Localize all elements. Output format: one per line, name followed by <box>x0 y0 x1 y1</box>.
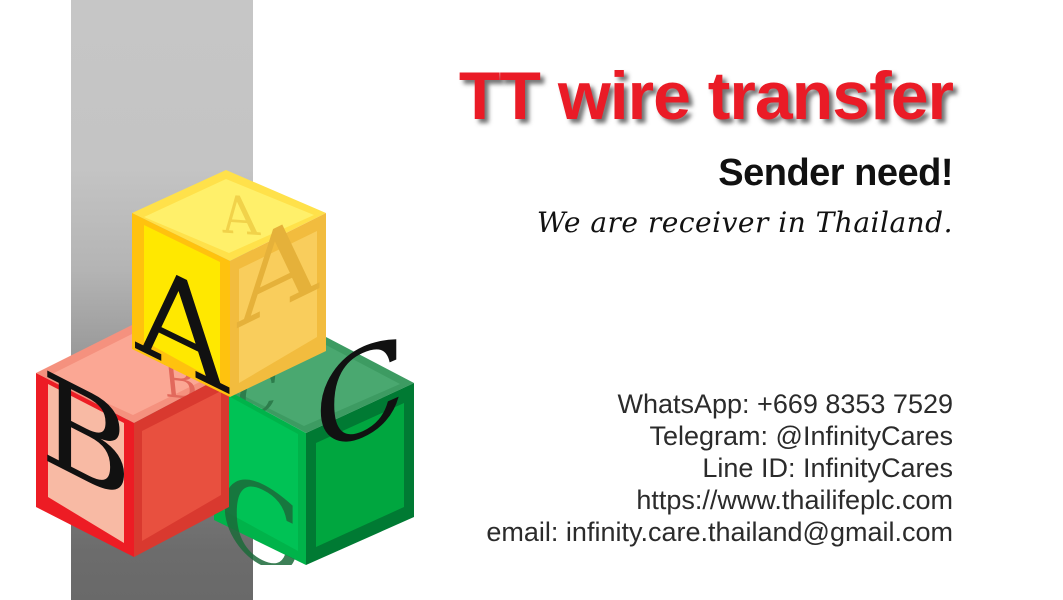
subtitle: Sender need! <box>0 151 953 195</box>
tagline: We are receiver in Thailand. <box>0 205 953 241</box>
contact-line-website[interactable]: https://www.thailifeplc.com <box>0 484 953 516</box>
contact-line-email[interactable]: email: infinity.care.thailand@gmail.com <box>0 516 953 548</box>
page-title: TT wire transfer <box>0 57 953 135</box>
poster-canvas: C C C B B <box>0 0 1063 600</box>
contact-line-telegram: Telegram: @InfinityCares <box>0 420 953 452</box>
contact-details: WhatsApp: +669 8353 7529 Telegram: @Infi… <box>0 388 953 548</box>
contact-line-whatsapp: WhatsApp: +669 8353 7529 <box>0 388 953 420</box>
contact-line-lineid: Line ID: InfinityCares <box>0 452 953 484</box>
